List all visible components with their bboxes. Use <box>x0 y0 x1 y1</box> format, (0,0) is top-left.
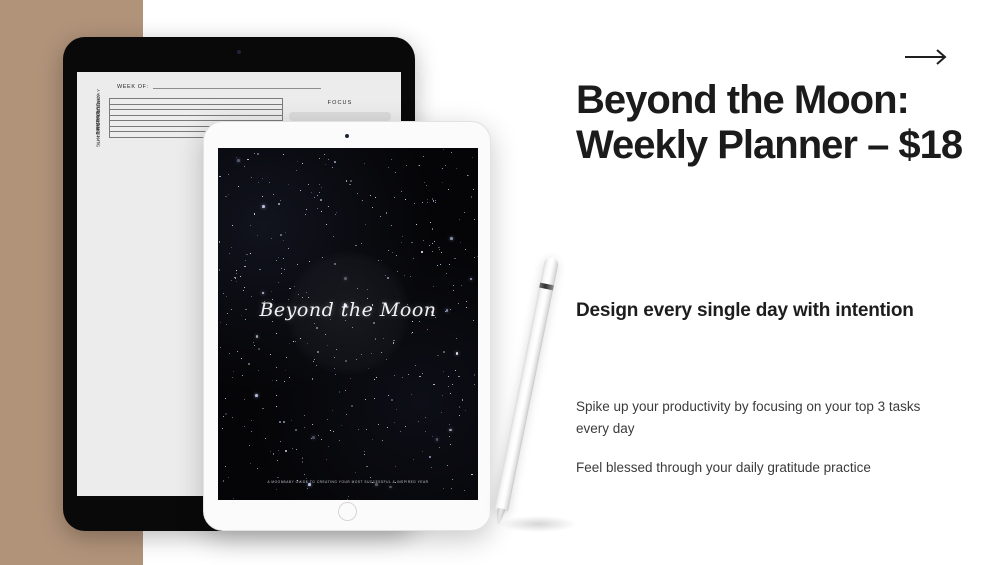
body-copy: Spike up your productivity by focusing o… <box>576 396 956 479</box>
star-dot <box>465 410 466 411</box>
star-dot <box>370 195 371 196</box>
star-dot <box>232 417 233 418</box>
star-dot <box>451 152 452 153</box>
star-dot <box>281 268 282 269</box>
star-dot <box>226 324 227 325</box>
star-dot <box>321 187 322 188</box>
star-dot <box>242 375 243 376</box>
week-of-field: WEEK OF: <box>117 84 391 90</box>
arrow-right-icon[interactable] <box>904 48 950 66</box>
star-dot <box>459 415 460 416</box>
star-dot <box>262 292 265 295</box>
star-dot <box>474 219 475 220</box>
star-dot <box>270 451 271 452</box>
star-dot <box>300 190 301 191</box>
cover-tagline: A MOONBABY GUIDE TO CREATING YOUR MOST S… <box>218 480 478 484</box>
star-dot <box>408 374 409 375</box>
star-dot <box>231 247 232 248</box>
star-dot <box>460 242 461 243</box>
star-dot <box>452 384 453 385</box>
body-paragraph-2: Feel blessed through your daily gratitud… <box>576 457 956 479</box>
star-dot <box>311 438 312 439</box>
star-dot <box>454 258 456 260</box>
subheading: Design every single day with intention <box>576 297 936 325</box>
star-dot <box>442 168 443 169</box>
star-dot <box>259 269 260 270</box>
star-dot <box>288 184 289 185</box>
star-dot <box>316 327 318 329</box>
star-dot <box>285 450 287 452</box>
star-dot <box>296 449 297 450</box>
star-dot <box>437 355 438 356</box>
star-dot <box>441 252 442 253</box>
star-dot <box>219 176 221 178</box>
star-dot <box>262 196 263 197</box>
star-dot <box>276 406 277 407</box>
star-dot <box>448 189 449 190</box>
star-dot <box>327 419 328 420</box>
star-dot <box>270 354 271 355</box>
star-dot <box>358 429 359 430</box>
star-dot <box>334 161 336 163</box>
star-dot <box>223 416 224 417</box>
star-dot <box>426 185 427 186</box>
page-title: Beyond the Moon: Weekly Planner – $18 <box>576 78 972 168</box>
star-dot <box>294 286 295 287</box>
star-dot <box>345 390 346 391</box>
star-dot <box>253 342 254 343</box>
star-dot <box>220 322 221 323</box>
star-dot <box>378 260 379 261</box>
star-dot <box>232 225 233 226</box>
star-dot <box>304 427 305 428</box>
star-dot <box>339 391 340 392</box>
star-dot <box>368 368 369 369</box>
week-of-label: WEEK OF: <box>117 84 149 90</box>
star-dot <box>365 399 366 400</box>
star-dot <box>406 165 407 166</box>
star-dot <box>325 164 326 165</box>
star-dot <box>300 338 301 339</box>
star-dot <box>361 354 362 355</box>
star-dot <box>419 376 420 377</box>
star-dot <box>364 454 365 455</box>
star-dot <box>330 430 331 431</box>
cover-title: Beyond the Moon <box>218 299 478 321</box>
star-dot <box>388 167 389 168</box>
star-dot <box>256 335 259 338</box>
star-dot <box>272 321 273 322</box>
star-dot <box>449 424 450 425</box>
star-dot <box>433 286 434 287</box>
star-dot <box>372 439 373 440</box>
star-dot <box>429 456 431 458</box>
star-dot <box>453 285 454 286</box>
star-dot <box>280 200 281 201</box>
star-dot <box>305 214 306 215</box>
star-dot <box>272 380 273 381</box>
star-dot <box>244 399 245 400</box>
star-dot <box>413 258 414 259</box>
star-dot <box>382 440 383 441</box>
star-dot <box>376 377 377 378</box>
star-dot <box>284 269 285 270</box>
planner-day-labels: MONDAY TUESDAY WEDNESDAY THURSDAY FRIDAY… <box>87 98 109 138</box>
star-dot <box>458 376 460 378</box>
star-dot <box>257 235 258 236</box>
star-dot <box>283 240 284 241</box>
star-dot <box>425 417 426 418</box>
star-dot <box>317 351 319 353</box>
star-dot <box>413 459 414 460</box>
home-button[interactable] <box>338 502 357 521</box>
star-dot <box>313 361 314 362</box>
star-dot <box>374 398 375 399</box>
star-dot <box>328 159 329 160</box>
star-dot <box>355 245 357 247</box>
star-dot <box>273 453 274 454</box>
star-dot <box>418 421 419 422</box>
star-dot <box>447 465 448 466</box>
star-dot <box>424 182 425 183</box>
star-dot <box>374 379 375 380</box>
star-dot <box>456 338 457 339</box>
star-dot <box>244 287 245 288</box>
star-dot <box>237 159 240 162</box>
star-dot <box>232 377 233 378</box>
star-dot <box>401 242 402 243</box>
stylus-body <box>494 256 559 512</box>
star-dot <box>308 184 309 185</box>
star-dot <box>474 257 475 258</box>
star-dot <box>411 333 412 334</box>
slide-canvas: WEEK OF: MONDAY TUESDAY WEDNESDAY THURSD… <box>0 0 1005 565</box>
star-dot <box>327 345 328 346</box>
focus-label: FOCUS <box>289 100 391 106</box>
star-dot <box>278 450 279 451</box>
star-dot <box>244 166 245 167</box>
star-dot <box>449 429 452 432</box>
star-dot <box>361 243 362 244</box>
star-dot <box>470 278 473 281</box>
star-dot <box>220 347 221 348</box>
star-dot <box>233 498 234 499</box>
star-dot <box>381 260 382 261</box>
star-dot <box>249 445 250 446</box>
star-dot <box>462 399 464 401</box>
star-dot <box>289 377 290 378</box>
star-dot <box>283 154 284 155</box>
star-dot <box>439 447 440 448</box>
star-dot <box>279 421 281 423</box>
star-dot <box>302 163 303 164</box>
star-dot <box>432 228 433 229</box>
star-dot <box>440 264 441 265</box>
star-dot <box>472 157 473 158</box>
star-dot <box>243 290 244 291</box>
star-dot <box>357 193 358 194</box>
star-dot <box>248 363 250 365</box>
star-dot <box>219 269 221 271</box>
star-dot <box>244 426 245 427</box>
star-dot <box>319 158 320 159</box>
star-dot <box>314 197 315 198</box>
star-dot <box>335 214 336 215</box>
star-dot <box>332 410 333 411</box>
star-dot <box>326 459 327 460</box>
star-dot <box>278 282 279 283</box>
star-dot <box>316 365 317 366</box>
star-dot <box>405 426 406 427</box>
star-dot <box>288 248 289 249</box>
star-dot <box>411 394 412 395</box>
star-dot <box>421 251 423 253</box>
star-dot <box>314 359 315 360</box>
star-dot <box>277 477 279 479</box>
star-dot <box>433 200 434 201</box>
star-dot <box>422 451 423 452</box>
star-dot <box>306 292 307 293</box>
star-dot <box>405 199 406 200</box>
star-dot <box>336 212 337 213</box>
star-dot <box>241 358 242 359</box>
star-dot <box>324 154 325 155</box>
star-dot <box>222 428 223 429</box>
star-dot <box>387 427 388 428</box>
star-dot <box>289 343 290 344</box>
star-dot <box>236 281 237 282</box>
star-dot <box>459 219 460 220</box>
star-dot <box>251 420 252 421</box>
star-dot <box>456 168 457 169</box>
star-dot <box>438 247 439 248</box>
star-dot <box>410 276 411 277</box>
star-dot <box>432 251 433 252</box>
star-dot <box>237 351 238 352</box>
star-dot <box>311 192 312 193</box>
day-label-row: SUNDAY <box>87 132 109 138</box>
star-dot <box>422 373 423 374</box>
star-dot <box>251 431 252 432</box>
star-dot <box>257 153 259 155</box>
star-dot <box>453 290 454 291</box>
star-dot <box>366 466 368 468</box>
star-dot <box>280 234 282 236</box>
star-dot <box>283 421 285 423</box>
star-dot <box>231 280 232 281</box>
star-dot <box>448 376 449 377</box>
star-dot <box>247 159 249 161</box>
star-dot <box>385 275 386 276</box>
star-dot <box>255 394 258 397</box>
star-dot <box>225 413 227 415</box>
star-dot <box>395 466 396 467</box>
star-dot <box>427 202 428 203</box>
star-dot <box>386 359 387 360</box>
star-dot <box>383 338 384 339</box>
star-dot <box>362 200 363 201</box>
star-dot <box>228 194 229 195</box>
star-dot <box>236 270 237 271</box>
star-dot <box>386 212 388 214</box>
star-dot <box>402 236 403 237</box>
star-dot <box>443 149 444 150</box>
star-dot <box>442 395 443 396</box>
star-dot <box>291 420 292 421</box>
star-dot <box>293 341 294 342</box>
star-dot <box>306 209 307 210</box>
star-dot <box>286 357 287 358</box>
star-dot <box>434 241 435 242</box>
star-dot <box>459 406 460 407</box>
star-dot <box>401 191 402 192</box>
star-dot <box>432 436 433 437</box>
star-dot <box>334 263 335 264</box>
front-tablet-camera-icon <box>345 134 349 138</box>
star-dot <box>262 408 264 410</box>
star-dot <box>477 256 478 257</box>
star-dot <box>445 165 446 166</box>
star-dot <box>412 321 413 322</box>
star-dot <box>276 367 277 368</box>
star-dot <box>345 360 347 362</box>
star-dot <box>262 205 265 208</box>
star-dot <box>302 461 303 462</box>
star-dot <box>292 448 293 449</box>
star-dot <box>278 257 279 258</box>
star-dot <box>443 351 445 353</box>
body-paragraph-1: Spike up your productivity by focusing o… <box>576 396 956 440</box>
star-dot <box>250 253 251 254</box>
star-dot <box>394 197 395 198</box>
star-dot <box>277 460 278 461</box>
star-dot <box>319 184 320 185</box>
star-dot <box>319 192 320 193</box>
star-dot <box>285 370 286 371</box>
star-dot <box>229 353 230 354</box>
star-dot <box>257 468 258 469</box>
star-dot <box>333 431 334 432</box>
star-dot <box>394 375 395 376</box>
star-dot <box>302 458 303 459</box>
star-dot <box>251 177 252 178</box>
star-dot <box>455 370 456 371</box>
star-dot <box>322 257 323 258</box>
star-dot <box>296 170 297 171</box>
star-dot <box>321 439 323 441</box>
star-dot <box>380 216 381 217</box>
star-dot <box>350 378 351 379</box>
star-dot <box>276 333 277 334</box>
star-dot <box>350 180 352 182</box>
star-dot <box>328 206 329 207</box>
star-dot <box>448 386 449 387</box>
star-dot <box>443 488 444 489</box>
star-dot <box>229 253 230 254</box>
star-dot <box>258 182 259 183</box>
star-dot <box>464 212 465 213</box>
star-dot <box>411 242 412 243</box>
star-dot <box>258 348 260 350</box>
star-dot <box>473 189 474 190</box>
star-dot <box>430 222 431 223</box>
star-dot <box>429 245 430 246</box>
star-dot <box>388 250 389 251</box>
star-dot <box>332 167 333 168</box>
star-dot <box>276 260 277 261</box>
star-dot <box>391 225 392 226</box>
star-dot <box>254 213 255 214</box>
star-dot <box>309 261 310 262</box>
star-dot <box>355 472 356 473</box>
star-dot <box>439 249 440 250</box>
star-dot <box>423 156 424 157</box>
star-dot <box>373 322 375 324</box>
apple-pencil-stylus <box>487 256 562 532</box>
star-dot <box>307 488 308 489</box>
star-dot <box>273 194 274 195</box>
star-dot <box>334 368 335 369</box>
star-dot <box>449 264 450 265</box>
star-dot <box>276 489 277 490</box>
star-dot <box>441 412 442 413</box>
star-dot <box>254 345 255 346</box>
star-dot <box>225 196 227 198</box>
star-dot <box>422 202 423 203</box>
star-dot <box>236 273 237 274</box>
star-dot <box>271 291 272 292</box>
star-dot <box>262 178 263 179</box>
star-dot <box>375 197 376 198</box>
star-dot <box>219 241 221 243</box>
star-dot <box>298 294 299 295</box>
star-dot <box>474 384 475 385</box>
star-dot <box>412 332 413 333</box>
star-dot <box>328 446 329 447</box>
star-dot <box>443 371 444 372</box>
star-dot <box>433 384 435 386</box>
star-dot <box>394 422 395 423</box>
week-of-rule <box>153 88 321 89</box>
star-dot <box>391 399 393 401</box>
star-dot <box>370 477 371 478</box>
star-dot <box>450 237 453 240</box>
front-tablet-screen: Beyond the Moon A MOONBABY GUIDE TO CREA… <box>218 148 478 500</box>
star-dot <box>419 165 420 166</box>
star-dot <box>335 374 336 375</box>
star-dot <box>325 334 326 335</box>
star-dot <box>321 211 322 212</box>
star-dot <box>351 405 353 407</box>
star-dot <box>423 240 424 241</box>
star-dot <box>312 378 314 380</box>
star-dot <box>366 429 367 430</box>
star-dot <box>378 424 379 425</box>
star-dot <box>397 271 399 273</box>
star-dot <box>317 208 318 209</box>
star-dot <box>333 236 334 237</box>
star-dot <box>304 474 305 475</box>
star-dot <box>339 440 340 441</box>
star-dot <box>395 172 396 173</box>
star-dot <box>389 486 392 489</box>
star-dot <box>225 466 226 467</box>
star-dot <box>225 398 226 399</box>
star-dot <box>468 175 469 176</box>
star-dot <box>318 435 319 436</box>
back-tablet-camera-icon <box>237 50 241 54</box>
star-dot <box>246 254 247 255</box>
